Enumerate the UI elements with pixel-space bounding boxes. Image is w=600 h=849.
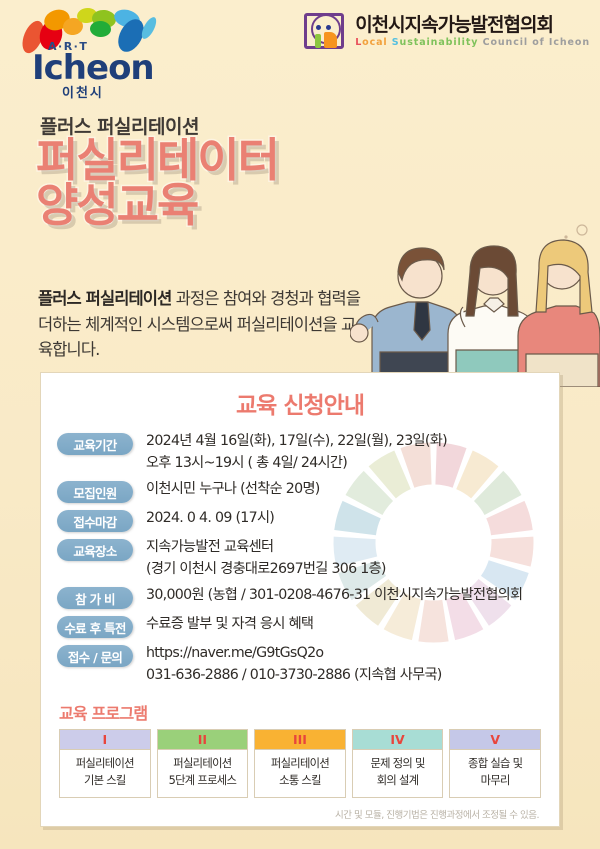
program-column-4: IV 문제 정의 및 회의 설계 bbox=[352, 729, 444, 798]
info-list: 교육기간 2024년 4월 16일(화), 17일(수), 22일(월), 23… bbox=[41, 431, 559, 686]
info-row-venue: 교육장소 지속가능발전 교육센터 (경기 이천시 경충대로2697번길 306 … bbox=[57, 537, 559, 580]
info-value-contact: https://naver.me/G9tGsQ2o 031-636-2886 /… bbox=[146, 643, 442, 686]
info-label-venue: 교육장소 bbox=[57, 539, 133, 561]
info-row-contact: 접수 / 문의 https://naver.me/G9tGsQ2o 031-63… bbox=[57, 643, 559, 686]
deco-dot bbox=[564, 235, 567, 238]
info-label-benefits: 수료 후 특전 bbox=[57, 616, 133, 638]
program-text-5: 종합 실습 및 마무리 bbox=[450, 750, 540, 797]
contact-phone-numbers: 031-636-2886 / 010-3730-2886 (지속협 사무국) bbox=[146, 665, 442, 687]
hero-description-strong: 플러스 퍼실리테이션 bbox=[38, 289, 171, 308]
council-mark-orange-shape bbox=[324, 32, 337, 48]
info-row-benefits: 수료 후 특전 수료증 발부 및 자격 응시 혜택 bbox=[57, 614, 559, 638]
info-label-period: 교육기간 bbox=[57, 433, 133, 455]
info-card: 교육 신청안내 교육기간 2024년 4월 16일(화), 17일(수), 22… bbox=[40, 372, 560, 827]
council-en-icheon: cheon bbox=[553, 37, 590, 48]
council-mark-green-shape bbox=[315, 34, 321, 48]
program-text-4: 문제 정의 및 회의 설계 bbox=[353, 750, 443, 797]
program-text-2: 퍼실리테이션 5단계 프로세스 bbox=[158, 750, 248, 797]
logo-blob-green bbox=[89, 20, 111, 37]
info-label-deadline: 접수마감 bbox=[57, 510, 133, 532]
logo-row: A·R·T Icheon 이천시 이천시지속가능발전협의회 Local Sust… bbox=[0, 0, 600, 100]
council-logo-text: 이천시지속가능발전협의회 Local Sustainability Counci… bbox=[355, 16, 590, 49]
info-value-capacity: 이천시민 누구나 (선착순 20명) bbox=[146, 479, 320, 501]
program-table: I 퍼실리테이션 기본 스킬 II 퍼실리테이션 5단계 프로세스 III 퍼실… bbox=[41, 729, 559, 798]
council-en-local: ocal bbox=[362, 37, 392, 48]
icheon-logo-blobs bbox=[18, 8, 168, 50]
program-title: 교육 프로그램 bbox=[59, 700, 559, 724]
program-numeral-4: IV bbox=[353, 730, 443, 750]
council-en-sustainability: ustainability bbox=[400, 37, 483, 48]
program-text-3: 퍼실리테이션 소통 스킬 bbox=[255, 750, 345, 797]
deco-circle bbox=[577, 225, 587, 235]
info-value-venue-line1: 지속가능발전 교육센터 bbox=[146, 539, 273, 555]
program-numeral-2: II bbox=[158, 730, 248, 750]
info-row-fee: 참 가 비 30,000원 (농협 / 301-0208-4676-31 이천시… bbox=[57, 585, 559, 609]
program-column-1: I 퍼실리테이션 기본 스킬 bbox=[59, 729, 151, 798]
icheon-city-logo: A·R·T Icheon 이천시 bbox=[18, 8, 168, 96]
info-label-fee: 참 가 비 bbox=[57, 587, 133, 609]
card-title: 교육 신청안내 bbox=[41, 386, 559, 420]
info-value-venue: 지속가능발전 교육센터 (경기 이천시 경충대로2697번길 306 1층) bbox=[146, 537, 386, 580]
info-label-capacity: 모집인원 bbox=[57, 481, 133, 503]
council-en-council: ouncil of bbox=[490, 37, 548, 48]
info-value-venue-line2: (경기 이천시 경충대로2697번길 306 1층) bbox=[146, 559, 386, 581]
council-name-en: Local Sustainability Council of Icheon bbox=[355, 37, 590, 48]
hero-description: 플러스 퍼실리테이션 과정은 참여와 경청과 협력을 더하는 체계적인 시스템으… bbox=[38, 286, 368, 363]
info-value-fee: 30,000원 (농협 / 301-0208-4676-31 이천시지속가능발전… bbox=[146, 585, 522, 607]
people-illustration-svg bbox=[350, 212, 600, 387]
program-numeral-5: V bbox=[450, 730, 540, 750]
poster-root: A·R·T Icheon 이천시 이천시지속가능발전협의회 Local Sust… bbox=[0, 0, 600, 849]
info-card-inner: 교육 신청안내 교육기간 2024년 4월 16일(화), 17일(수), 22… bbox=[41, 386, 559, 827]
program-note: 시간 및 모듈, 진행기법은 진행과정에서 조정될 수 있음. bbox=[41, 798, 559, 821]
registration-link[interactable]: https://naver.me/G9tGsQ2o bbox=[146, 645, 323, 661]
program-numeral-1: I bbox=[60, 730, 150, 750]
council-name-kr: 이천시지속가능발전협의회 bbox=[355, 16, 553, 36]
info-value-period-line2: 오후 13시~19시 ( 총 4일/ 24시간) bbox=[146, 453, 447, 475]
icheon-logo-name-kr: 이천시 bbox=[62, 82, 104, 101]
info-value-deadline: 2024. 0 4. 09 (17시) bbox=[146, 508, 274, 530]
program-column-2: II 퍼실리테이션 5단계 프로세스 bbox=[157, 729, 249, 798]
info-value-period: 2024년 4월 16일(화), 17일(수), 22일(월), 23일(화) … bbox=[146, 431, 447, 474]
info-label-contact: 접수 / 문의 bbox=[57, 645, 133, 667]
council-logo: 이천시지속가능발전협의회 Local Sustainability Counci… bbox=[302, 6, 590, 58]
info-value-benefits: 수료증 발부 및 자격 응시 혜택 bbox=[146, 614, 313, 636]
program-text-1: 퍼실리테이션 기본 스킬 bbox=[60, 750, 150, 797]
page-title: 퍼실리테이터 양성교육 bbox=[36, 138, 278, 228]
info-row-deadline: 접수마감 2024. 0 4. 09 (17시) bbox=[57, 508, 559, 532]
program-numeral-3: III bbox=[255, 730, 345, 750]
info-value-period-line1: 2024년 4월 16일(화), 17일(수), 22일(월), 23일(화) bbox=[146, 433, 447, 449]
info-row-capacity: 모집인원 이천시민 누구나 (선착순 20명) bbox=[57, 479, 559, 503]
program-column-5: V 종합 실습 및 마무리 bbox=[449, 729, 541, 798]
info-row-period: 교육기간 2024년 4월 16일(화), 17일(수), 22일(월), 23… bbox=[57, 431, 559, 474]
council-en-S: S bbox=[392, 37, 400, 48]
people-illustration bbox=[350, 212, 600, 387]
council-logo-mark-icon bbox=[302, 10, 348, 54]
program-column-3: III 퍼실리테이션 소통 스킬 bbox=[254, 729, 346, 798]
